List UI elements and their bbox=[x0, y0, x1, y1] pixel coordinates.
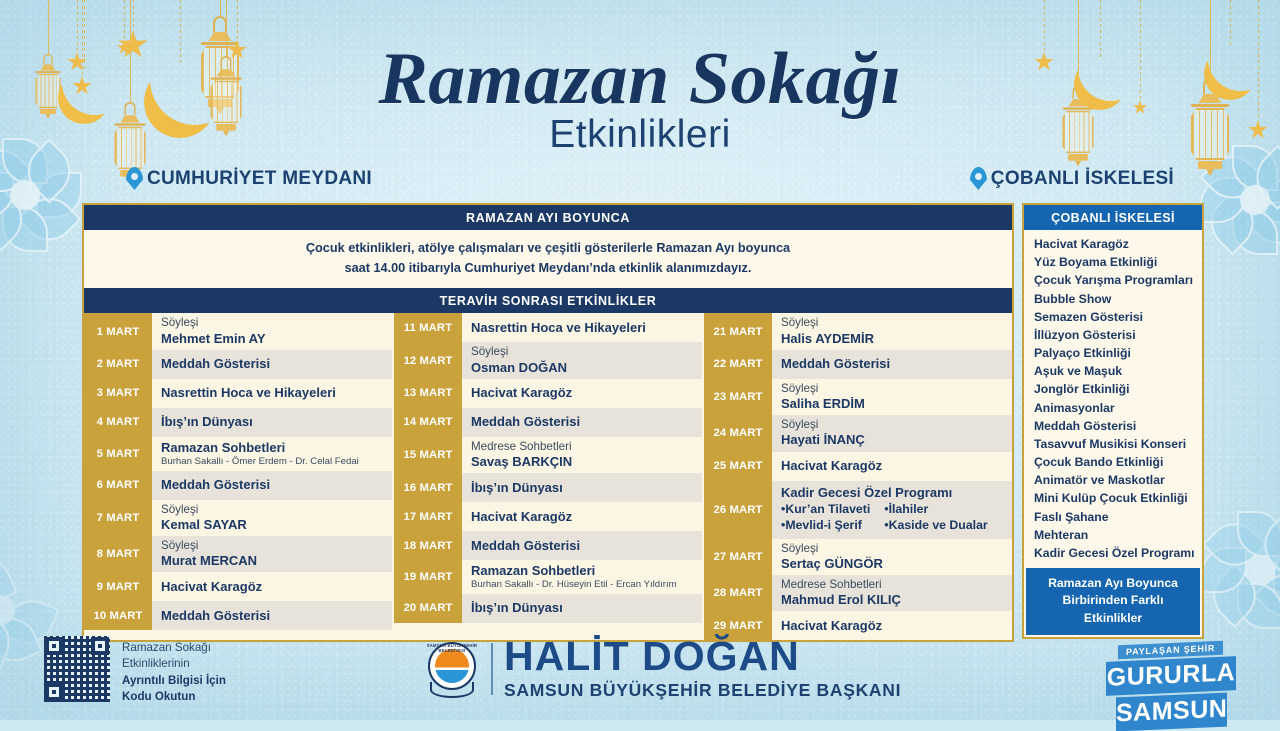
schedule-event-title: Meddah Gösterisi bbox=[471, 538, 702, 554]
location-label-cumhuriyet-meydani: CUMHURİYET MEYDANI bbox=[126, 167, 372, 190]
schedule-event-subtitle: Söyleşi bbox=[161, 539, 392, 553]
sidebar-activity-item: Çocuk Bando Etkinliği bbox=[1034, 453, 1202, 471]
schedule-date-cell: 15 MART bbox=[394, 437, 462, 473]
schedule-row: 24 MARTSöyleşiHayati İNANÇ bbox=[704, 415, 1012, 451]
schedule-event-title: Mahmud Erol KILIÇ bbox=[781, 592, 1012, 608]
schedule-event-title: Meddah Gösterisi bbox=[781, 356, 1012, 372]
schedule-event-title: Nasrettin Hoca ve Hikayeleri bbox=[161, 385, 392, 401]
schedule-event-cell: İbış’ın Dünyası bbox=[462, 594, 702, 623]
schedule-event-title: Kemal SAYAR bbox=[161, 517, 392, 533]
schedule-event-subtitle: Medrese Sohbetleri bbox=[471, 440, 702, 454]
schedule-event-cell: Hacivat Karagöz bbox=[462, 379, 702, 408]
panel-header: RAMAZAN AYI BOYUNCA bbox=[84, 205, 1012, 230]
location-label-text: CUMHURİYET MEYDANI bbox=[147, 168, 372, 190]
location-label-cobanli-iskelesi: ÇOBANLI İSKELESİ bbox=[970, 167, 1174, 190]
poster-title: Ramazan Sokağı Etkinlikleri bbox=[0, 42, 1280, 157]
panel-intro-line1: Çocuk etkinlikleri, atölye çalışmaları v… bbox=[84, 239, 1012, 259]
panel-subheader: TERAVİH SONRASI ETKİNLİKLER bbox=[84, 288, 1012, 313]
schedule-event-cell: Meddah Gösterisi bbox=[152, 601, 392, 630]
schedule-event-cell: SöyleşiMehmet Emin AY bbox=[152, 313, 392, 349]
schedule-event-title: Murat MERCAN bbox=[161, 553, 392, 569]
schedule-event-cell: Nasrettin Hoca ve Hikayeleri bbox=[462, 313, 702, 342]
brand-line2: SAMSUN bbox=[1116, 693, 1227, 731]
qr-caption-line4: Kodu Okutun bbox=[122, 689, 226, 705]
schedule-event-subtitle: Söyleşi bbox=[781, 382, 1012, 396]
bullet-item: İlahiler bbox=[884, 502, 987, 518]
sidebar-activity-item: Animasyonlar bbox=[1034, 399, 1202, 417]
sidebar-header: ÇOBANLI İSKELESİ bbox=[1024, 205, 1202, 230]
schedule-row: 25 MARTHacivat Karagöz bbox=[704, 452, 1012, 481]
sidebar-activity-item: İllüzyon Gösterisi bbox=[1034, 326, 1202, 344]
schedule-date-cell: 17 MART bbox=[394, 502, 462, 531]
sidebar-activity-item: Tasavvuf Musikisi Konseri bbox=[1034, 435, 1202, 453]
schedule-event-speakers: Burhan Sakallı - Ömer Erdem - Dr. Celal … bbox=[161, 456, 392, 468]
bullet-list: Kur’an TilavetiMevlid-i Şerif bbox=[781, 502, 870, 533]
sidebar-activity-list: Hacivat KaragözYüz Boyama EtkinliğiÇocuk… bbox=[1024, 230, 1202, 566]
schedule-row: 5 MARTRamazan SohbetleriBurhan Sakallı -… bbox=[84, 437, 392, 471]
schedule-event-title: Hayati İNANÇ bbox=[781, 432, 1012, 448]
sidebar-activity-item: Aşuk ve Maşuk bbox=[1034, 362, 1202, 380]
bullet-item: Kaside ve Dualar bbox=[884, 518, 987, 534]
schedule-event-title: Meddah Gösterisi bbox=[161, 608, 392, 624]
schedule-column-2: 11 MARTNasrettin Hoca ve Hikayeleri12 MA… bbox=[392, 313, 702, 640]
sidebar-activity-item: Meddah Gösterisi bbox=[1034, 417, 1202, 435]
schedule-date-cell: 1 MART bbox=[84, 313, 152, 349]
schedule-event-cell: Nasrettin Hoca ve Hikayeleri bbox=[152, 379, 392, 408]
schedule-event-cell: Hacivat Karagöz bbox=[772, 452, 1012, 481]
schedule-row: 6 MARTMeddah Gösterisi bbox=[84, 471, 392, 500]
schedule-row: 20 MARTİbış’ın Dünyası bbox=[394, 594, 702, 623]
schedule-date-cell: 19 MART bbox=[394, 560, 462, 594]
schedule-row: 14 MARTMeddah Gösterisi bbox=[394, 408, 702, 437]
qr-finder-icon bbox=[45, 683, 63, 701]
schedule-event-subtitle: Söyleşi bbox=[471, 345, 702, 359]
schedule-event-cell: Kadir Gecesi Özel ProgramıKur’an Tilavet… bbox=[772, 481, 1012, 539]
panel-intro: Çocuk etkinlikleri, atölye çalışmaları v… bbox=[84, 230, 1012, 288]
schedule-event-cell: SöyleşiSaliha ERDİM bbox=[772, 379, 1012, 415]
sidebar-activity-item: Palyaço Etkinliği bbox=[1034, 344, 1202, 362]
samsun-municipality-crest-icon: SAMSUN BÜYÜKŞEHİR BELEDİYESİ bbox=[424, 640, 480, 698]
sidebar-activity-item: Animatör ve Maskotlar bbox=[1034, 471, 1202, 489]
sidebar-activity-item: Mehteran bbox=[1034, 526, 1202, 544]
sidebar-footer-note: Ramazan Ayı Boyunca Birbirinden Farklı E… bbox=[1026, 568, 1200, 635]
qr-caption-line3: Ayrıntılı Bilgisi İçin bbox=[122, 673, 226, 689]
schedule-event-title: Sertaç GÜNGÖR bbox=[781, 556, 1012, 572]
schedule-event-title: Ramazan Sohbetleri bbox=[161, 440, 392, 456]
panel-intro-line2: saat 14.00 itibarıyla Cumhuriyet Meydanı… bbox=[84, 259, 1012, 279]
schedule-event-title: Hacivat Karagöz bbox=[781, 618, 1012, 634]
schedule-date-cell: 2 MART bbox=[84, 350, 152, 379]
schedule-date-cell: 28 MART bbox=[704, 575, 772, 611]
title-sub: Etkinlikleri bbox=[0, 113, 1280, 157]
schedule-row: 12 MARTSöyleşiOsman DOĞAN bbox=[394, 342, 702, 378]
schedule-event-cell: SöyleşiMurat MERCAN bbox=[152, 536, 392, 572]
schedule-column-1: 1 MARTSöyleşiMehmet Emin AY2 MARTMeddah … bbox=[84, 313, 392, 640]
schedule-event-cell: SöyleşiOsman DOĞAN bbox=[462, 342, 702, 378]
schedule-row: 19 MARTRamazan SohbetleriBurhan Sakallı … bbox=[394, 560, 702, 594]
schedule-row: 26 MARTKadir Gecesi Özel ProgramıKur’an … bbox=[704, 481, 1012, 539]
schedule-event-title: Kadir Gecesi Özel Programı bbox=[781, 485, 1012, 501]
schedule-row: 17 MARTHacivat Karagöz bbox=[394, 502, 702, 531]
schedule-event-title: Meddah Gösterisi bbox=[161, 477, 392, 493]
schedule-grid: 1 MARTSöyleşiMehmet Emin AY2 MARTMeddah … bbox=[84, 313, 1012, 640]
sidebar-activity-item: Mini Kulüp Çocuk Etkinliği bbox=[1034, 489, 1202, 507]
brand-line1: GURURLA bbox=[1106, 656, 1236, 696]
qr-caption-line1: Ramazan Sokağı bbox=[122, 640, 226, 656]
schedule-date-cell: 25 MART bbox=[704, 452, 772, 481]
schedule-row: 23 MARTSöyleşiSaliha ERDİM bbox=[704, 379, 1012, 415]
schedule-row: 13 MARTHacivat Karagöz bbox=[394, 379, 702, 408]
schedule-event-title: Halis AYDEMİR bbox=[781, 331, 1012, 347]
schedule-row: 10 MARTMeddah Gösterisi bbox=[84, 601, 392, 630]
schedule-row: 11 MARTNasrettin Hoca ve Hikayeleri bbox=[394, 313, 702, 342]
schedule-event-title: Meddah Gösterisi bbox=[471, 414, 702, 430]
schedule-event-cell: SöyleşiHayati İNANÇ bbox=[772, 415, 1012, 451]
sidebar-activity-item: Semazen Gösterisi bbox=[1034, 308, 1202, 326]
bullet-item: Kur’an Tilaveti bbox=[781, 502, 870, 518]
schedule-event-subtitle: Söyleşi bbox=[781, 316, 1012, 330]
schedule-row: 22 MARTMeddah Gösterisi bbox=[704, 350, 1012, 379]
title-main: Ramazan Sokağı bbox=[0, 42, 1280, 117]
schedule-event-title: Hacivat Karagöz bbox=[471, 385, 702, 401]
schedule-event-cell: Ramazan SohbetleriBurhan Sakallı - Dr. H… bbox=[462, 560, 702, 594]
schedule-date-cell: 26 MART bbox=[704, 481, 772, 539]
qr-caption: Ramazan Sokağı Etkinliklerinin Ayrıntılı… bbox=[122, 636, 226, 706]
qr-caption-line2: Etkinliklerinin bbox=[122, 656, 226, 672]
schedule-event-title: Mehmet Emin AY bbox=[161, 331, 392, 347]
schedule-event-cell: Meddah Gösterisi bbox=[772, 350, 1012, 379]
schedule-date-cell: 7 MART bbox=[84, 500, 152, 536]
schedule-event-title: Savaş BARKÇIN bbox=[471, 454, 702, 470]
schedule-event-title: Saliha ERDİM bbox=[781, 396, 1012, 412]
schedule-event-subtitle: Söyleşi bbox=[781, 418, 1012, 432]
schedule-date-cell: 13 MART bbox=[394, 379, 462, 408]
schedule-event-title: İbış’ın Dünyası bbox=[471, 480, 702, 496]
schedule-event-title: İbış’ın Dünyası bbox=[161, 414, 392, 430]
cobanli-iskelesi-panel: ÇOBANLI İSKELESİ Hacivat KaragözYüz Boya… bbox=[1022, 203, 1204, 639]
schedule-event-title: İbış’ın Dünyası bbox=[471, 600, 702, 616]
schedule-row: 4 MARTİbış’ın Dünyası bbox=[84, 408, 392, 437]
schedule-date-cell: 5 MART bbox=[84, 437, 152, 471]
schedule-event-cell: SöyleşiHalis AYDEMİR bbox=[772, 313, 1012, 349]
sidebar-footer-line3: Etkinlikler bbox=[1030, 610, 1196, 627]
schedule-event-bullets: Kur’an TilavetiMevlid-i ŞerifİlahilerKas… bbox=[781, 502, 1012, 533]
schedule-event-cell: SöyleşiKemal SAYAR bbox=[152, 500, 392, 536]
schedule-event-title: Ramazan Sohbetleri bbox=[471, 563, 702, 579]
qr-finder-icon bbox=[45, 637, 63, 655]
schedule-event-subtitle: Söyleşi bbox=[161, 503, 392, 517]
mayor-role: SAMSUN BÜYÜKŞEHİR BELEDİYE BAŞKANI bbox=[504, 680, 901, 701]
mayor-name: HALİT DOĞAN bbox=[504, 636, 901, 677]
schedule-row: 8 MARTSöyleşiMurat MERCAN bbox=[84, 536, 392, 572]
schedule-event-subtitle: Söyleşi bbox=[781, 542, 1012, 556]
sidebar-activity-item: Yüz Boyama Etkinliği bbox=[1034, 253, 1202, 271]
qr-finder-icon bbox=[91, 637, 109, 655]
schedule-row: 15 MARTMedrese SohbetleriSavaş BARKÇIN bbox=[394, 437, 702, 473]
schedule-date-cell: 27 MART bbox=[704, 539, 772, 575]
sidebar-footer-line2: Birbirinden Farklı bbox=[1030, 592, 1196, 609]
sidebar-activity-item: Hacivat Karagöz bbox=[1034, 235, 1202, 253]
schedule-row: 7 MARTSöyleşiKemal SAYAR bbox=[84, 500, 392, 536]
mayor-signature-block: SAMSUN BÜYÜKŞEHİR BELEDİYESİ HALİT DOĞAN… bbox=[424, 636, 901, 701]
schedule-event-cell: Hacivat Karagöz bbox=[462, 502, 702, 531]
sidebar-activity-item: Kadir Gecesi Özel Programı bbox=[1034, 544, 1202, 562]
bullet-item: Mevlid-i Şerif bbox=[781, 518, 870, 534]
bullet-list: İlahilerKaside ve Dualar bbox=[884, 502, 987, 533]
schedule-date-cell: 24 MART bbox=[704, 415, 772, 451]
schedule-date-cell: 12 MART bbox=[394, 342, 462, 378]
schedule-event-cell: Ramazan SohbetleriBurhan Sakallı - Ömer … bbox=[152, 437, 392, 471]
schedule-event-cell: Meddah Gösterisi bbox=[462, 408, 702, 437]
schedule-event-cell: SöyleşiSertaç GÜNGÖR bbox=[772, 539, 1012, 575]
schedule-event-title: Hacivat Karagöz bbox=[471, 509, 702, 525]
schedule-date-cell: 9 MART bbox=[84, 572, 152, 601]
sidebar-activity-item: Faslı Şahane bbox=[1034, 508, 1202, 526]
sidebar-activity-item: Jonglör Etkinliği bbox=[1034, 380, 1202, 398]
schedule-row: 16 MARTİbış’ın Dünyası bbox=[394, 473, 702, 502]
schedule-date-cell: 20 MART bbox=[394, 594, 462, 623]
schedule-event-cell: Hacivat Karagöz bbox=[152, 572, 392, 601]
schedule-date-cell: 4 MART bbox=[84, 408, 152, 437]
crest-text: SAMSUN BÜYÜKŞEHİR BELEDİYESİ bbox=[424, 643, 480, 653]
qr-code-image[interactable] bbox=[44, 636, 110, 702]
vertical-divider bbox=[491, 643, 493, 695]
schedule-event-cell: Meddah Gösterisi bbox=[462, 531, 702, 560]
schedule-event-title: Hacivat Karagöz bbox=[161, 579, 392, 595]
schedule-row: 2 MARTMeddah Gösterisi bbox=[84, 350, 392, 379]
schedule-event-cell: İbış’ın Dünyası bbox=[462, 473, 702, 502]
location-label-text: ÇOBANLI İSKELESİ bbox=[991, 168, 1174, 190]
schedule-date-cell: 22 MART bbox=[704, 350, 772, 379]
schedule-row: 28 MARTMedrese SohbetleriMahmud Erol KIL… bbox=[704, 575, 1012, 611]
schedule-row: 21 MARTSöyleşiHalis AYDEMİR bbox=[704, 313, 1012, 349]
schedule-date-cell: 16 MART bbox=[394, 473, 462, 502]
schedule-date-cell: 21 MART bbox=[704, 313, 772, 349]
schedule-event-cell: Meddah Gösterisi bbox=[152, 350, 392, 379]
schedule-event-title: Hacivat Karagöz bbox=[781, 458, 1012, 474]
sidebar-activity-item: Bubble Show bbox=[1034, 290, 1202, 308]
schedule-date-cell: 6 MART bbox=[84, 471, 152, 500]
schedule-date-cell: 10 MART bbox=[84, 601, 152, 630]
sidebar-footer-line1: Ramazan Ayı Boyunca bbox=[1030, 575, 1196, 592]
sidebar-activity-item: Çocuk Yarışma Programları bbox=[1034, 271, 1202, 289]
schedule-column-3: 21 MARTSöyleşiHalis AYDEMİR22 MARTMeddah… bbox=[702, 313, 1012, 640]
schedule-date-cell: 11 MART bbox=[394, 313, 462, 342]
qr-info-block: Ramazan Sokağı Etkinliklerinin Ayrıntılı… bbox=[44, 636, 226, 706]
schedule-event-subtitle: Söyleşi bbox=[161, 316, 392, 330]
schedule-date-cell: 18 MART bbox=[394, 531, 462, 560]
schedule-date-cell: 23 MART bbox=[704, 379, 772, 415]
schedule-date-cell: 8 MART bbox=[84, 536, 152, 572]
schedule-row: 9 MARTHacivat Karagöz bbox=[84, 572, 392, 601]
schedule-event-title: Osman DOĞAN bbox=[471, 360, 702, 376]
schedule-date-cell: 3 MART bbox=[84, 379, 152, 408]
gururla-samsun-logo: PAYLAŞAN ŞEHİR GURURLA SAMSUN bbox=[1106, 640, 1236, 729]
schedule-event-cell: İbış’ın Dünyası bbox=[152, 408, 392, 437]
schedule-event-cell: Meddah Gösterisi bbox=[152, 471, 392, 500]
location-pin-icon bbox=[970, 167, 987, 190]
schedule-row: 3 MARTNasrettin Hoca ve Hikayeleri bbox=[84, 379, 392, 408]
schedule-row: 1 MARTSöyleşiMehmet Emin AY bbox=[84, 313, 392, 349]
schedule-row: 18 MARTMeddah Gösterisi bbox=[394, 531, 702, 560]
schedule-date-cell: 14 MART bbox=[394, 408, 462, 437]
location-pin-icon bbox=[126, 167, 143, 190]
schedule-event-speakers: Burhan Sakallı - Dr. Hüseyin Etil - Erca… bbox=[471, 579, 702, 591]
schedule-event-title: Meddah Gösterisi bbox=[161, 356, 392, 372]
schedule-event-title: Nasrettin Hoca ve Hikayeleri bbox=[471, 320, 702, 336]
schedule-panel: RAMAZAN AYI BOYUNCA Çocuk etkinlikleri, … bbox=[82, 203, 1014, 642]
schedule-event-subtitle: Medrese Sohbetleri bbox=[781, 578, 1012, 592]
schedule-event-cell: Medrese SohbetleriMahmud Erol KILIÇ bbox=[772, 575, 1012, 611]
schedule-event-cell: Medrese SohbetleriSavaş BARKÇIN bbox=[462, 437, 702, 473]
schedule-row: 27 MARTSöyleşiSertaç GÜNGÖR bbox=[704, 539, 1012, 575]
